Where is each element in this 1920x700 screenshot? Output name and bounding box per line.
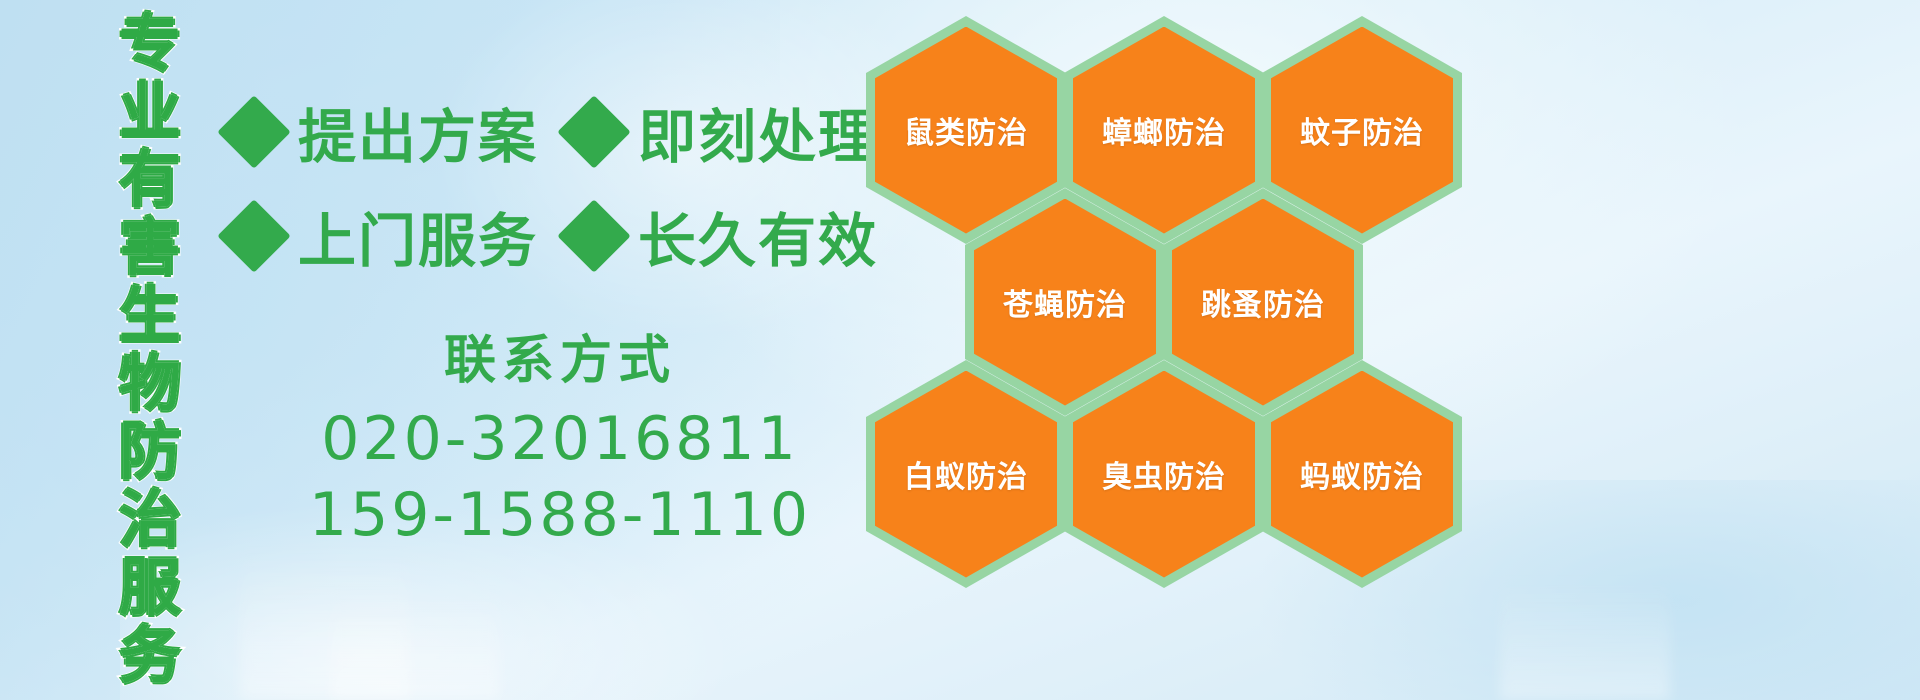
background-streak-2 — [330, 590, 500, 700]
service-label: 跳蚤防治 — [1201, 280, 1325, 324]
vertical-headline-char: 生 — [119, 282, 181, 350]
service-label: 蟑螂防治 — [1102, 108, 1226, 152]
vertical-headline-char: 治 — [119, 486, 181, 554]
vertical-headline-char: 专 — [119, 10, 181, 78]
vertical-headline-char: 服 — [119, 554, 181, 622]
promo-banner: 专 业 有 害 生 物 防 治 服 务 提出方案 即刻处理 上门服务 — [0, 0, 1920, 700]
feature-list: 提出方案 即刻处理 上门服务 长久有效 — [228, 80, 888, 288]
hex-inner: 白蚁防治 — [875, 371, 1057, 578]
hex-inner: 蚊子防治 — [1271, 27, 1453, 234]
service-label: 苍蝇防治 — [1003, 280, 1127, 324]
feature-item: 提出方案 — [228, 90, 538, 174]
diamond-bullet-icon — [217, 95, 291, 169]
phone-number-landline[interactable]: 020-32016811 — [300, 401, 820, 477]
feature-label: 即刻处理 — [638, 90, 878, 174]
diamond-bullet-icon — [217, 199, 291, 273]
vertical-headline-char: 业 — [119, 78, 181, 146]
hex-inner: 蟑螂防治 — [1073, 27, 1255, 234]
feature-label: 提出方案 — [298, 90, 538, 174]
vertical-headline-char: 有 — [119, 146, 181, 214]
service-label: 臭虫防治 — [1102, 452, 1226, 496]
service-label: 鼠类防治 — [904, 108, 1028, 152]
hex-inner: 苍蝇防治 — [974, 199, 1156, 406]
feature-row: 提出方案 即刻处理 — [228, 80, 888, 184]
vertical-headline: 专 业 有 害 生 物 防 治 服 务 — [108, 10, 192, 555]
hex-inner: 跳蚤防治 — [1172, 199, 1354, 406]
feature-label: 长久有效 — [638, 194, 878, 278]
vertical-headline-char: 害 — [119, 214, 181, 282]
hex-inner: 鼠类防治 — [875, 27, 1057, 234]
hex-inner: 臭虫防治 — [1073, 371, 1255, 578]
feature-row: 上门服务 长久有效 — [228, 184, 888, 288]
background-streak-3 — [1500, 580, 1670, 700]
phone-number-mobile[interactable]: 159-1588-1110 — [300, 477, 820, 553]
vertical-headline-char: 务 — [119, 622, 181, 690]
feature-item: 上门服务 — [228, 194, 538, 278]
service-honeycomb: 鼠类防治 蟑螂防治 蚊子防治 苍蝇防治 跳蚤防治 白蚁防治 — [862, 8, 1462, 556]
service-label: 蚂蚁防治 — [1300, 452, 1424, 496]
hex-inner: 蚂蚁防治 — [1271, 371, 1453, 578]
vertical-headline-char: 物 — [119, 350, 181, 418]
contact-block: 联系方式 020-32016811 159-1588-1110 — [300, 318, 820, 553]
diamond-bullet-icon — [557, 199, 631, 273]
service-label: 白蚁防治 — [904, 452, 1028, 496]
service-label: 蚊子防治 — [1300, 108, 1424, 152]
feature-item: 即刻处理 — [568, 90, 878, 174]
diamond-bullet-icon — [557, 95, 631, 169]
contact-label: 联系方式 — [300, 318, 820, 393]
vertical-headline-char: 防 — [119, 418, 181, 486]
feature-item: 长久有效 — [568, 194, 878, 278]
feature-label: 上门服务 — [298, 194, 538, 278]
